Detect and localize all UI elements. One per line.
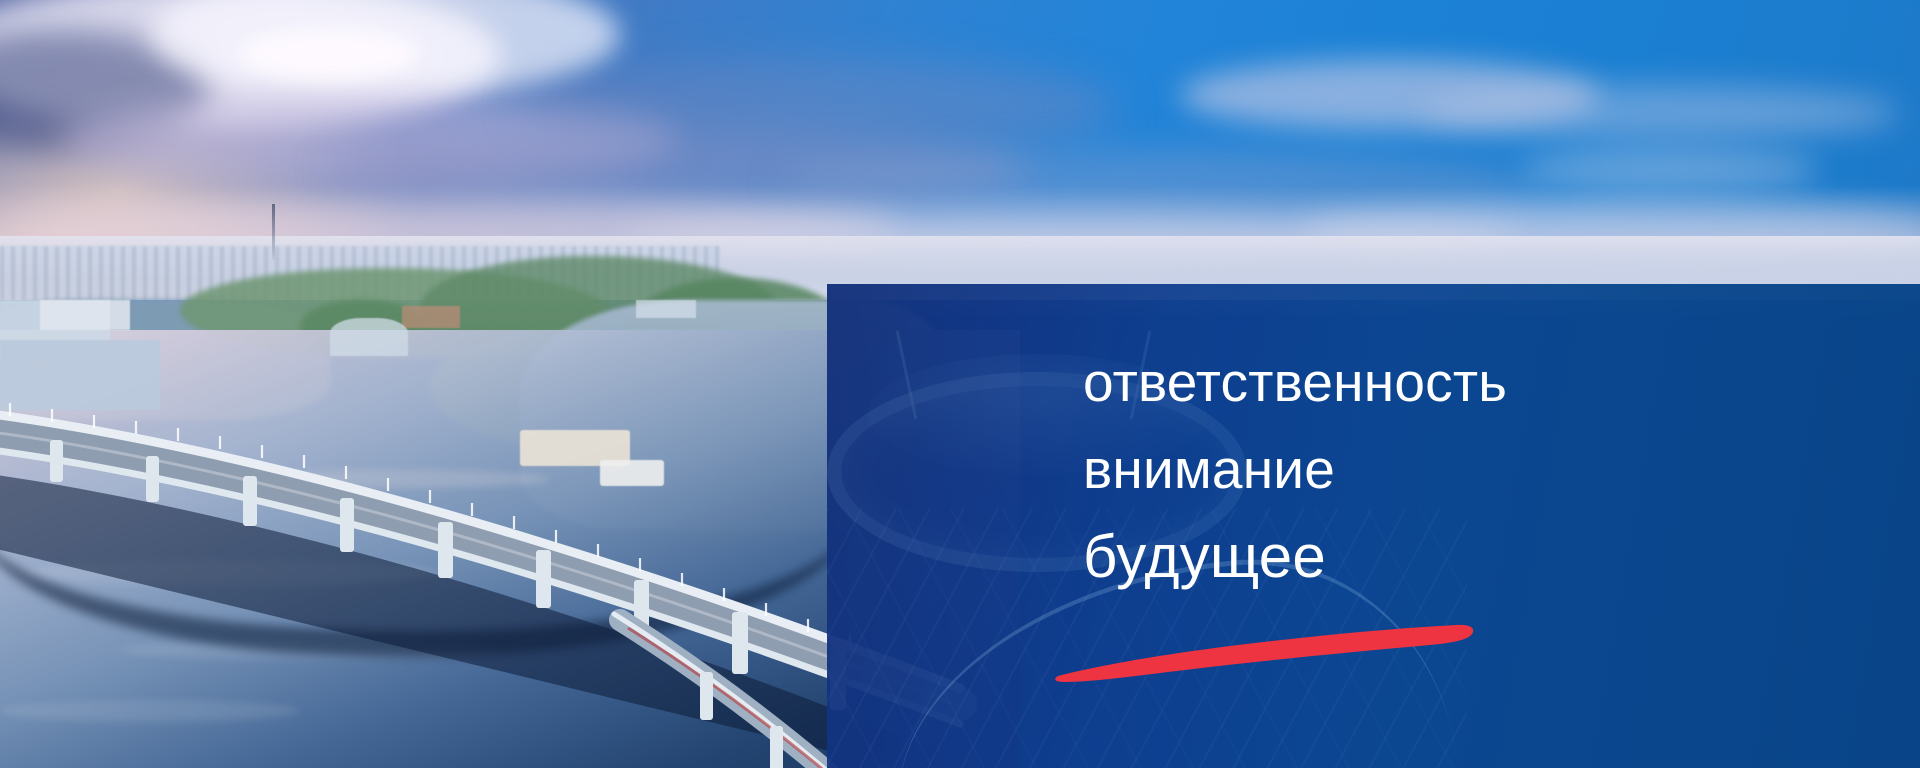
slogan-line-2: внимание bbox=[1083, 442, 1903, 497]
cloud-shape bbox=[520, 60, 1120, 155]
slogan-line-3: будущее bbox=[1083, 527, 1903, 587]
cloud-shape bbox=[240, 28, 420, 80]
slogan-text: ответственность внимание будущее bbox=[1083, 355, 1903, 587]
promo-hero-banner: ответственность внимание будущее bbox=[0, 0, 1920, 768]
cloud-shape bbox=[1520, 150, 1820, 190]
cloud-shape bbox=[1420, 85, 1900, 140]
slogan-line-1: ответственность bbox=[1083, 355, 1903, 410]
